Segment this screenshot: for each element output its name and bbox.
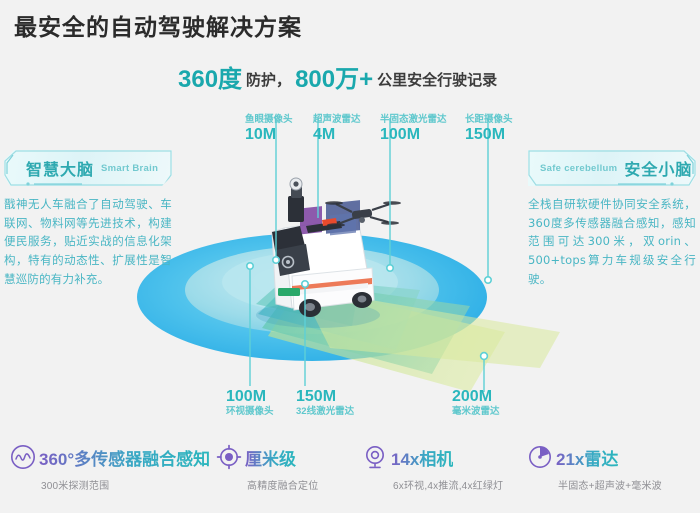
feature-item-sensor-fusion[interactable]: 360°多传感器融合感知 300米探测范围 <box>10 444 210 492</box>
subtitle-big-1: 360度 <box>178 66 242 93</box>
sensor-range: 100M <box>226 388 274 406</box>
panel-title-cn: 安全小脑 <box>624 156 692 180</box>
sensor-range: 200M <box>452 388 500 406</box>
sensor-name: 超声波雷达 <box>313 115 361 126</box>
subtitle-big-2: 800万+ <box>295 66 373 93</box>
sensor-name: 长距摄像头 <box>465 115 513 126</box>
feature-item-cameras[interactable]: 14x相机 6x环视,4x推流,4x红绿灯 <box>362 444 503 492</box>
waveform-circle-icon <box>10 444 36 470</box>
sensor-label-long-range-camera: 长距摄像头 150M <box>465 115 513 144</box>
sensor-label-millimeter-wave-radar: 200M 毫米波雷达 <box>452 388 500 418</box>
feature-sub: 6x环视,4x推流,4x红绿灯 <box>393 477 503 492</box>
feature-title: 360°多传感器融合感知 <box>39 445 210 470</box>
feature-bar: 360°多传感器融合感知 300米探测范围 厘米级 高精度融合定位 <box>0 440 700 513</box>
subtitle: 360度防护，800万+公里安全行驶记录 <box>178 68 501 92</box>
panel-title-en: Safe cerebellum <box>540 163 617 174</box>
feature-item-radars[interactable]: 21x雷达 半固态+超声波+毫米波 <box>527 444 662 492</box>
infographic-root: 最安全的自动驾驶解决方案 360度防护，800万+公里安全行驶记录 <box>0 0 700 513</box>
sensor-range: 4M <box>313 126 361 144</box>
feature-title: 厘米级 <box>245 445 296 470</box>
autonomous-patrol-vehicle <box>272 178 374 317</box>
sensor-range: 150M <box>296 388 354 406</box>
sensor-name: 半固态激光雷达 <box>380 115 447 126</box>
feature-title: 21x雷达 <box>556 445 618 470</box>
panel-badge-left: 智慧大脑 Smart Brain <box>4 150 172 186</box>
sensor-range: 100M <box>380 126 447 144</box>
feature-title: 14x相机 <box>391 445 453 470</box>
sensor-label-surround-camera: 100M 环视摄像头 <box>226 388 274 418</box>
subtitle-small-1: 防护， <box>242 72 295 89</box>
panel-title-en: Smart Brain <box>101 163 158 174</box>
panel-smart-brain: 智慧大脑 Smart Brain 戬神无人车融合了自动驾驶、车联网、物料网等先进… <box>4 150 172 288</box>
sensor-label-32line-lidar: 150M 32线激光雷达 <box>296 388 354 418</box>
crosshair-target-icon <box>216 444 242 470</box>
panel-title-cn: 智慧大脑 <box>26 156 94 180</box>
panel-badge-right: Safe cerebellum 安全小脑 <box>528 150 696 186</box>
panel-body-left: 戬神无人车融合了自动驾驶、车联网、物料网等先进技术，构建便民服务，贴近实战的信息… <box>4 195 172 288</box>
sensor-range: 150M <box>465 126 513 144</box>
sensor-range: 10M <box>245 126 293 144</box>
sensor-name: 毫米波雷达 <box>452 407 500 418</box>
camera-icon <box>362 444 388 470</box>
feature-item-centimeter-accuracy[interactable]: 厘米级 高精度融合定位 <box>216 444 318 492</box>
sensor-name: 环视摄像头 <box>226 407 274 418</box>
radar-sweep-icon <box>527 444 553 470</box>
sensor-label-fisheye-camera: 鱼眼摄像头 10M <box>245 115 293 144</box>
sensor-label-semi-solid-lidar: 半固态激光雷达 100M <box>380 115 447 144</box>
feature-sub: 300米探测范围 <box>41 477 210 492</box>
sensor-name: 鱼眼摄像头 <box>245 115 293 126</box>
sensor-name: 32线激光雷达 <box>296 407 354 418</box>
subtitle-small-2: 公里安全行驶记录 <box>373 72 501 89</box>
feature-sub: 半固态+超声波+毫米波 <box>558 477 662 492</box>
panel-body-right: 全栈自研软硬件协同安全系统，360度多传感器融合感知，感知范围可达300米，双o… <box>528 195 696 288</box>
page-title: 最安全的自动驾驶解决方案 <box>14 8 302 42</box>
panel-safe-cerebellum: Safe cerebellum 安全小脑 全栈自研软硬件协同安全系统，360度多… <box>528 150 696 288</box>
sensor-label-ultrasonic-radar: 超声波雷达 4M <box>313 115 361 144</box>
feature-sub: 高精度融合定位 <box>247 477 318 492</box>
